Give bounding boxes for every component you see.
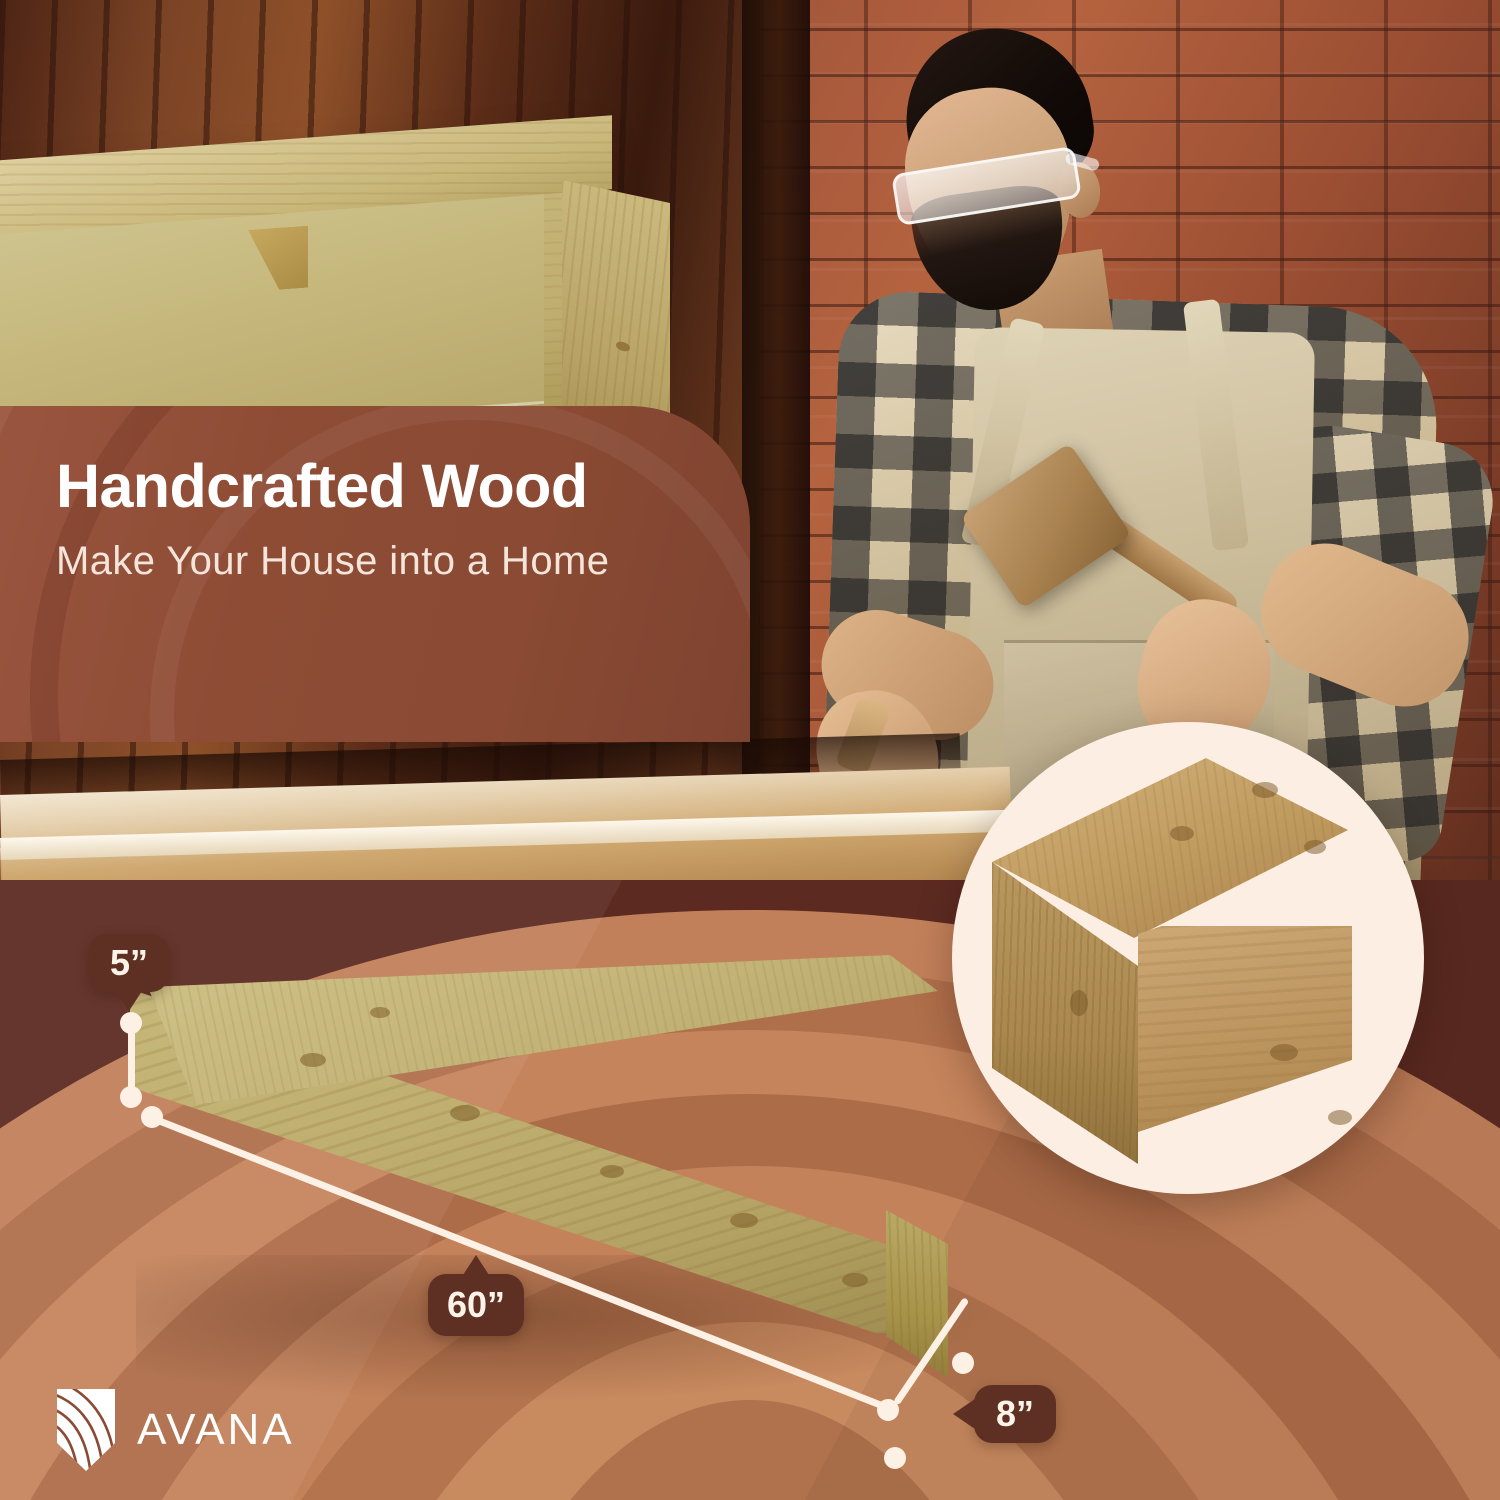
badge-tail-left <box>953 1399 975 1429</box>
detail-cube-right-face <box>1134 926 1352 1194</box>
detail-cube-knot <box>1170 826 1194 841</box>
detail-cube-knot <box>1270 1044 1298 1061</box>
infographic-canvas: Handcrafted Wood Make Your House into a … <box>0 0 1500 1500</box>
beam-knot <box>450 1105 480 1121</box>
product-beam-top-face <box>148 955 938 1105</box>
detail-cube-knot <box>1328 1110 1352 1125</box>
hero-title: Handcrafted Wood <box>56 456 588 517</box>
brand-logo[interactable]: AVANA <box>55 1378 335 1482</box>
beam-knot <box>300 1053 326 1067</box>
detail-cube-knot <box>1252 782 1278 798</box>
dimension-badge-height: 5” <box>89 934 169 992</box>
product-beam-render <box>130 955 1010 1425</box>
badge-tail-up <box>463 1255 489 1275</box>
shield-woodgrain-icon <box>55 1387 117 1473</box>
dimension-badge-length: 60” <box>428 1274 524 1336</box>
beam-knot <box>842 1273 868 1287</box>
brand-name: AVANA <box>137 1405 295 1455</box>
dimension-endpoint-dot <box>120 1086 142 1108</box>
beam-knot <box>370 1007 390 1018</box>
beam-knot <box>600 1165 624 1178</box>
dimension-endpoint-dot <box>884 1447 906 1469</box>
dimension-endpoint-dot <box>141 1106 163 1128</box>
dimension-badge-depth: 8” <box>974 1385 1056 1443</box>
dimension-endpoint-dot <box>120 1012 142 1034</box>
hero-text-panel: Handcrafted Wood Make Your House into a … <box>0 406 750 742</box>
detail-cube-knot <box>1304 840 1326 854</box>
dimension-endpoint-dot <box>952 1352 974 1374</box>
product-detail-inset <box>952 722 1424 1194</box>
detail-cube-knot <box>1070 990 1088 1016</box>
badge-tail-down <box>116 991 142 1011</box>
hero-subtitle: Make Your House into a Home <box>56 541 609 581</box>
beam-knot <box>730 1213 758 1228</box>
